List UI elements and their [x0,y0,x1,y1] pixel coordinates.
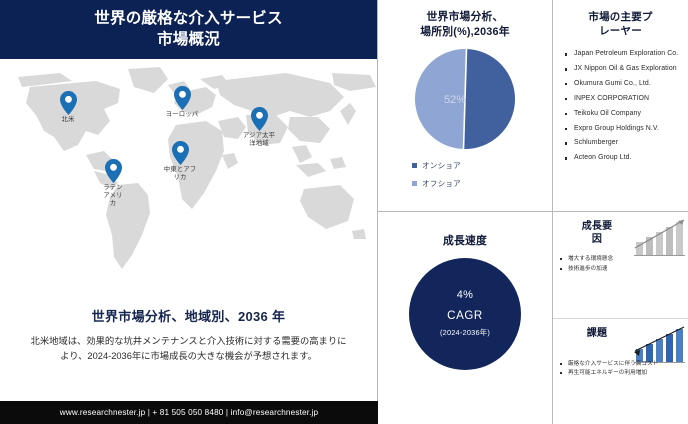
list-item: Expro Group Holdings N.V. [563,125,688,132]
growth-drivers-panel: 成長要 因 増大する環境懸念 技術進歩の加速 [553,212,688,319]
list-item: 増大する環境懸念 [558,256,688,262]
map-pin-label: アジア太平 洋地域 [232,132,286,148]
growth-rate-title: 成長速度 [378,234,552,249]
location-pin-icon [105,159,122,183]
key-players-list: Japan Petroleum Exploration Co. JX Nippo… [553,50,688,161]
infographic-root: 世界の厳格な介入サービス 市場概況 [0,0,688,424]
map-pin-label: ラテン アメリ カ [86,184,140,208]
list-item: Schlumberger [563,139,688,146]
list-item: Teikoku Oil Company [563,110,688,117]
map-pin-europe[interactable]: ヨーロッパ [155,86,209,119]
top-row: 世界市場分析、 場所別(%),2036年 52% [378,0,688,212]
legend-label: オンショア [422,160,461,171]
growth-drivers-list: 増大する環境懸念 技術進歩の加速 [558,256,688,276]
list-item: Japan Petroleum Exploration Co. [563,50,688,57]
legend-swatch [412,181,417,186]
growth-drivers-title: 成長要 因 [567,220,627,246]
challenges-title: 課題 [567,327,627,340]
map-pin-latin-america[interactable]: ラテン アメリ カ [86,159,140,208]
challenges-bar-chart-icon [628,325,686,365]
world-map: 北米 ヨーロッパ アジア太平 洋地域 [0,59,377,304]
map-pin-north-america[interactable]: 北米 [41,91,95,124]
map-pin-middle-east-africa[interactable]: 中東とアフ リカ [153,141,207,182]
location-pin-icon [174,86,191,110]
region-analysis-title: 世界市場分析、地域別、2036 年 [0,306,377,325]
map-pin-label: 中東とアフ リカ [153,166,207,182]
growth-bar-chart-icon [628,218,686,258]
pie-chart-svg: 52% [413,47,517,151]
pie-slice-label: 52% [444,94,466,106]
cagr-label: CAGR [447,310,483,322]
bottom-row: 成長速度 4% CAGR (2024-2036年) 成長要 因 [378,212,688,424]
growth-rate-panel: 成長速度 4% CAGR (2024-2036年) [378,212,553,424]
list-item: JX Nippon Oil & Gas Exploration [563,65,688,72]
list-item: 技術進歩の加速 [558,266,688,272]
list-item: 再生可能エネルギーの利用増加 [558,370,688,376]
legend-label: オフショア [422,178,461,189]
right-column: 世界市場分析、 場所別(%),2036年 52% [378,0,688,424]
cagr-circle: 4% CAGR (2024-2036年) [409,258,521,370]
cagr-value: 4% [457,289,474,301]
pie-legend: オンショア オフショア [378,160,552,189]
market-by-location-panel: 世界市場分析、 場所別(%),2036年 52% [378,0,553,212]
location-pin-icon [172,141,189,165]
footer-bar: www.researchnester.jp | + 81 505 050 848… [0,401,378,424]
map-pin-label: 北米 [41,116,95,124]
map-pin-asia-pacific[interactable]: アジア太平 洋地域 [232,107,286,148]
key-players-title: 市場の主要プ レーヤー [553,10,688,38]
map-pin-label: ヨーロッパ [155,111,209,119]
cagr-years: (2024-2036年) [440,327,490,338]
location-pin-icon [60,91,77,115]
key-players-panel: 市場の主要プ レーヤー Japan Petroleum Exploration … [553,0,688,212]
challenges-panel: 課題 厳格な介入サービスに伴う高コスト 再生可能エネルギーの利用増加 [553,319,688,424]
list-item: 厳格な介入サービスに伴う高コスト [558,361,688,367]
drivers-challenges-column: 成長要 因 増大する環境懸念 技術進歩の加速 [553,212,688,424]
legend-item-offshore[interactable]: オフショア [412,178,552,189]
location-pin-icon [251,107,268,131]
footer-contact-text: www.researchnester.jp | + 81 505 050 848… [60,408,318,417]
title-banner: 世界の厳格な介入サービス 市場概況 [0,0,377,59]
pie-chart: 52% [378,47,552,151]
list-item: Acteon Group Ltd. [563,154,688,161]
challenges-list: 厳格な介入サービスに伴う高コスト 再生可能エネルギーの利用増加 [558,361,688,381]
list-item: INPEX CORPORATION [563,95,688,102]
page-title: 世界の厳格な介入サービス 市場概況 [94,9,282,50]
region-analysis-description: 北米地域は、効果的な坑井メンテナンスと介入技術に対する需要の高まりにより、202… [26,334,351,364]
list-item: Okumura Gumi Co., Ltd. [563,80,688,87]
legend-item-onshore[interactable]: オンショア [412,160,552,171]
legend-swatch [412,163,417,168]
pie-chart-title: 世界市場分析、 場所別(%),2036年 [378,10,552,39]
cagr-badge: 4% CAGR (2024-2036年) [378,258,552,370]
left-column: 世界の厳格な介入サービス 市場概況 [0,0,378,424]
